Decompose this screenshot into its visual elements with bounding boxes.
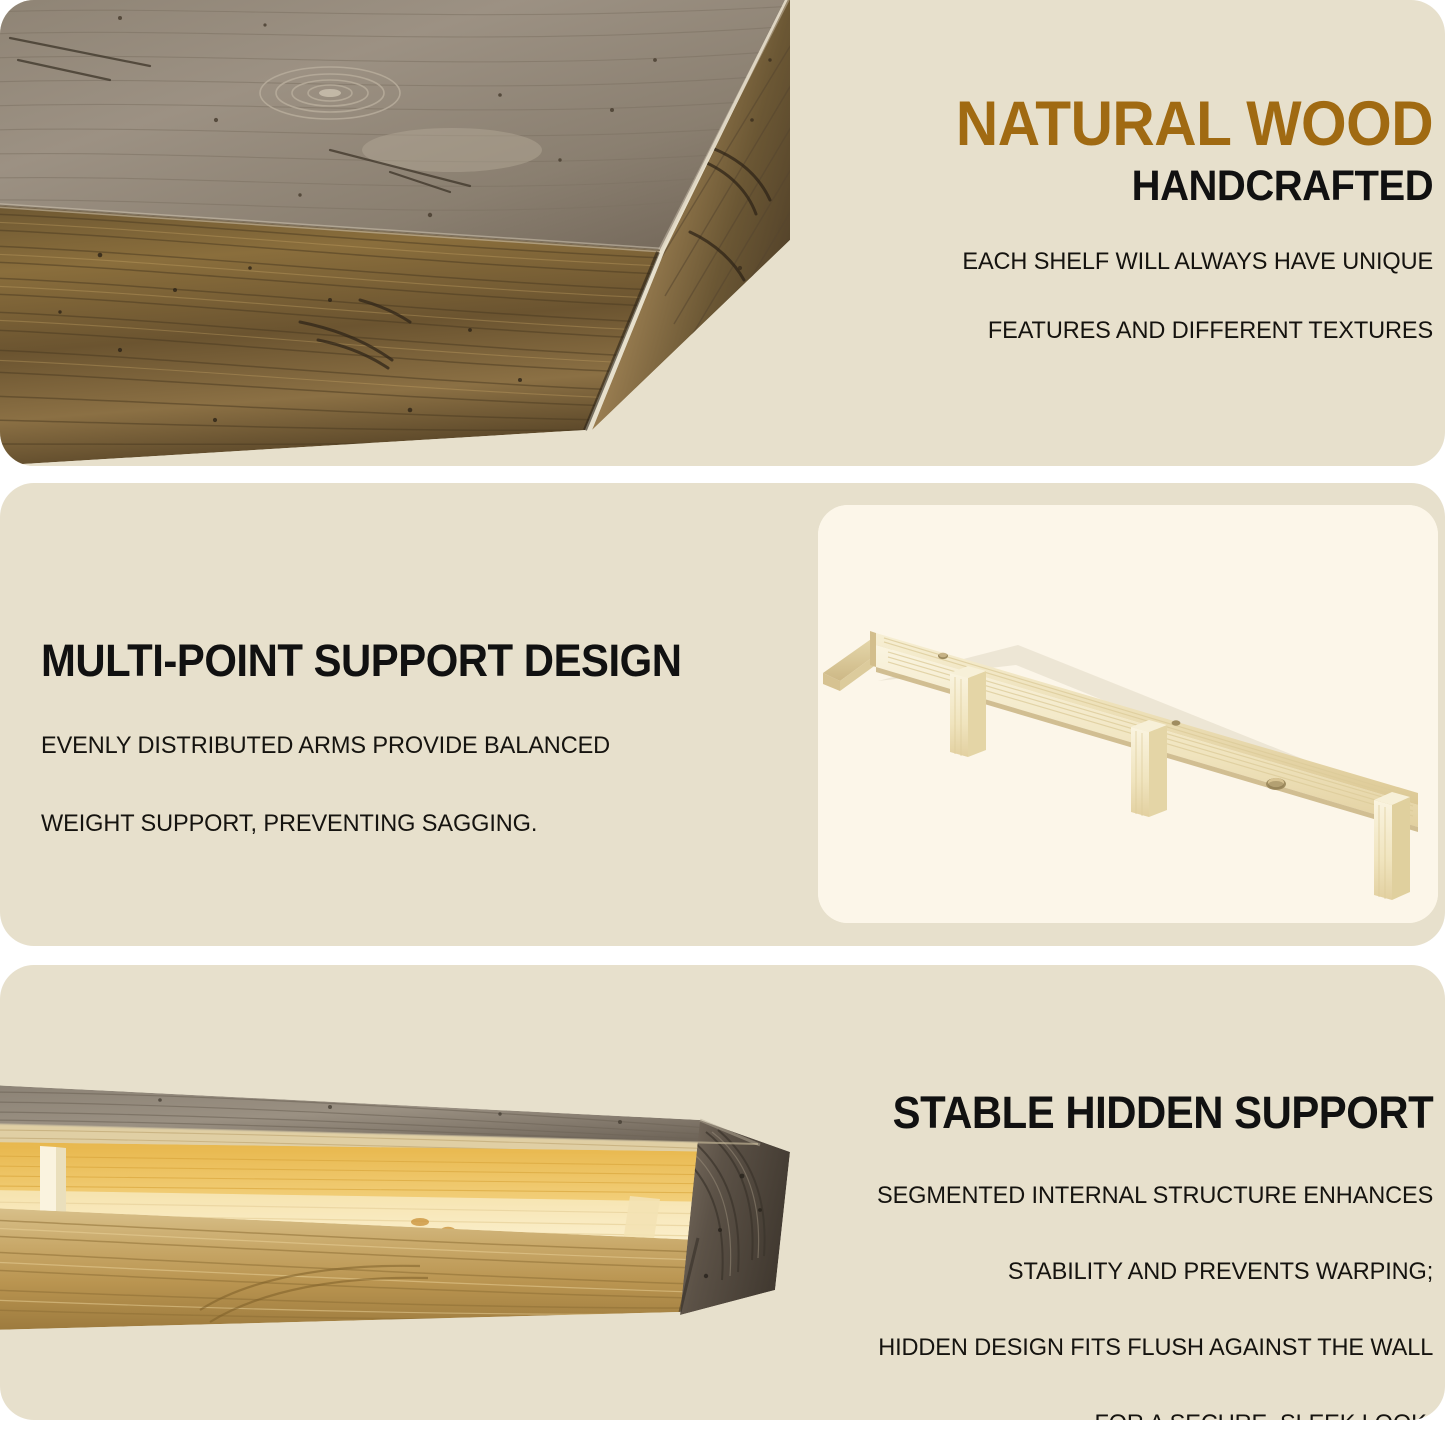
panel-3-body-line-1: SEGMENTED INTERNAL STRUCTURE ENHANCES	[875, 1181, 1433, 1211]
panel-2-body-line-2: WEIGHT SUPPORT, PREVENTING SAGGING.	[41, 809, 702, 839]
infographic-page: NATURAL WOOD HANDCRAFTED EACH SHELF WILL…	[0, 0, 1445, 1433]
panel-1-body-line-2: FEATURES AND DIFFERENT TEXTURES	[940, 316, 1433, 346]
panel-1-text-block: NATURAL WOOD HANDCRAFTED EACH SHELF WILL…	[920, 93, 1433, 346]
bracket-arm-2	[1131, 720, 1167, 817]
panel-1-body-line-1: EACH SHELF WILL ALWAYS HAVE UNIQUE	[940, 247, 1433, 277]
panel-2-text-block: MULTI-POINT SUPPORT DESIGN EVENLY DISTRI…	[41, 638, 730, 839]
panel-3-body-line-4: FOR A SECURE, SLEEK LOOK.	[875, 1409, 1433, 1420]
panel-stable-hidden-support: STABLE HIDDEN SUPPORT SEGMENTED INTERNAL…	[0, 965, 1445, 1420]
bracket-right-arm	[1374, 792, 1410, 900]
shelf-underside-image	[0, 1080, 800, 1340]
panel-multi-point-support: MULTI-POINT SUPPORT DESIGN EVENLY DISTRI…	[0, 483, 1445, 946]
heading-natural-wood: NATURAL WOOD	[956, 93, 1433, 156]
heading-stable-hidden-support: STABLE HIDDEN SUPPORT	[892, 1090, 1433, 1135]
panel-3-text-block: STABLE HIDDEN SUPPORT SEGMENTED INTERNAL…	[852, 1090, 1433, 1420]
panel-natural-wood: NATURAL WOOD HANDCRAFTED EACH SHELF WILL…	[0, 0, 1445, 466]
bracket-arm-1	[950, 666, 986, 757]
panel-3-body-line-2: STABILITY AND PREVENTS WARPING;	[875, 1257, 1433, 1287]
internal-divider	[40, 1146, 66, 1221]
wall-bracket-image	[818, 505, 1438, 923]
wood-shelf-closeup-image	[0, 0, 800, 466]
panel-2-body-line-1: EVENLY DISTRIBUTED ARMS PROVIDE BALANCED	[41, 731, 702, 761]
subheading-handcrafted: HANDCRAFTED	[956, 165, 1433, 208]
heading-multi-point-support-design: MULTI-POINT SUPPORT DESIGN	[41, 638, 681, 683]
bracket-image-card	[818, 505, 1438, 923]
panel-3-body-line-3: HIDDEN DESIGN FITS FLUSH AGAINST THE WAL…	[875, 1333, 1433, 1363]
